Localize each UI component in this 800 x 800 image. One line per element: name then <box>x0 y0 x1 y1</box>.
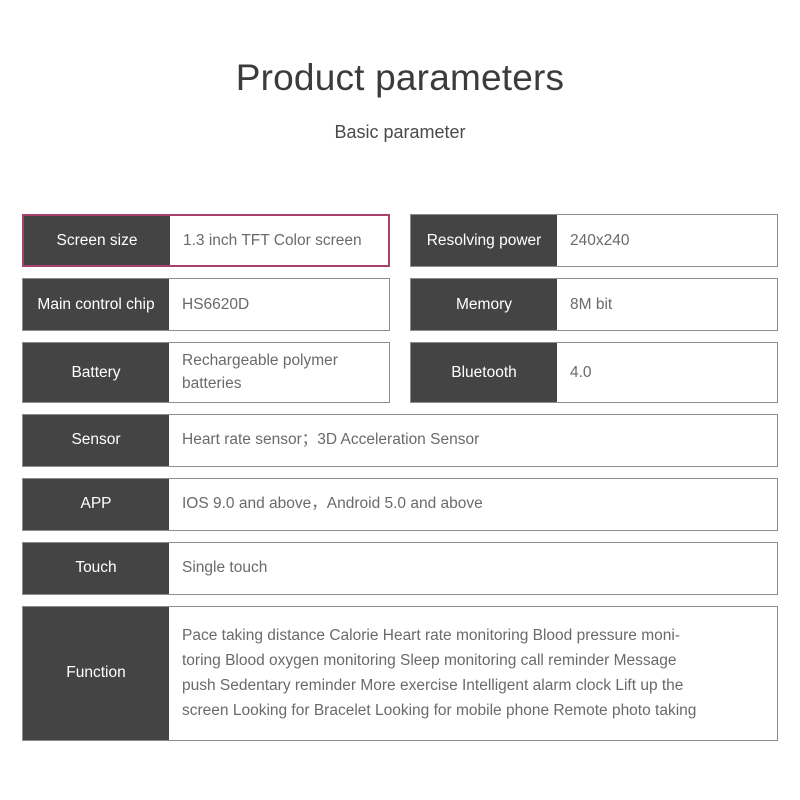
spec-row: Touch Single touch <box>22 542 778 595</box>
product-parameters-page: Product parameters Basic parameter Scree… <box>0 0 800 800</box>
spec-cell-app[interactable]: APP IOS 9.0 and above，Android 5.0 and ab… <box>22 478 778 531</box>
spec-row: APP IOS 9.0 and above，Android 5.0 and ab… <box>22 478 778 531</box>
spec-cell-battery[interactable]: Battery Rechargeable polymer batteries <box>22 342 390 403</box>
spec-cell-memory[interactable]: Memory 8M bit <box>410 278 778 331</box>
spec-value: HS6620D <box>169 279 389 330</box>
spec-row: Main control chip HS6620D Memory 8M bit <box>22 278 778 331</box>
spec-value: Pace taking distance Calorie Heart rate … <box>169 607 777 740</box>
spec-value: 4.0 <box>557 343 777 402</box>
spec-label: Bluetooth <box>411 343 557 402</box>
spec-value: 1.3 inch TFT Color screen <box>170 216 388 265</box>
spec-label: Screen size <box>24 216 170 265</box>
spec-label: APP <box>23 479 169 530</box>
spec-table: Screen size 1.3 inch TFT Color screen Re… <box>22 214 778 752</box>
spec-cell-bluetooth[interactable]: Bluetooth 4.0 <box>410 342 778 403</box>
spec-label: Battery <box>23 343 169 402</box>
spec-label: Main control chip <box>23 279 169 330</box>
spec-cell-resolving-power[interactable]: Resolving power 240x240 <box>410 214 778 267</box>
spec-value: Single touch <box>169 543 777 594</box>
page-title: Product parameters <box>0 58 800 99</box>
spec-cell-screen-size[interactable]: Screen size 1.3 inch TFT Color screen <box>22 214 390 267</box>
spec-value: Rechargeable polymer batteries <box>169 343 389 402</box>
spec-row: Function Pace taking distance Calorie He… <box>22 606 778 741</box>
spec-cell-main-control-chip[interactable]: Main control chip HS6620D <box>22 278 390 331</box>
spec-label: Sensor <box>23 415 169 466</box>
spec-cell-function[interactable]: Function Pace taking distance Calorie He… <box>22 606 778 741</box>
spec-label: Function <box>23 607 169 740</box>
spec-value: 8M bit <box>557 279 777 330</box>
spec-label: Memory <box>411 279 557 330</box>
page-header: Product parameters Basic parameter <box>0 0 800 142</box>
spec-value: Heart rate sensor；3D Acceleration Sensor <box>169 415 777 466</box>
spec-label: Resolving power <box>411 215 557 266</box>
spec-row: Sensor Heart rate sensor；3D Acceleration… <box>22 414 778 467</box>
spec-value: IOS 9.0 and above，Android 5.0 and above <box>169 479 777 530</box>
spec-row: Screen size 1.3 inch TFT Color screen Re… <box>22 214 778 267</box>
spec-cell-sensor[interactable]: Sensor Heart rate sensor；3D Acceleration… <box>22 414 778 467</box>
page-subtitle: Basic parameter <box>0 123 800 143</box>
spec-label: Touch <box>23 543 169 594</box>
spec-row: Battery Rechargeable polymer batteries B… <box>22 342 778 403</box>
spec-cell-touch[interactable]: Touch Single touch <box>22 542 778 595</box>
spec-value: 240x240 <box>557 215 777 266</box>
